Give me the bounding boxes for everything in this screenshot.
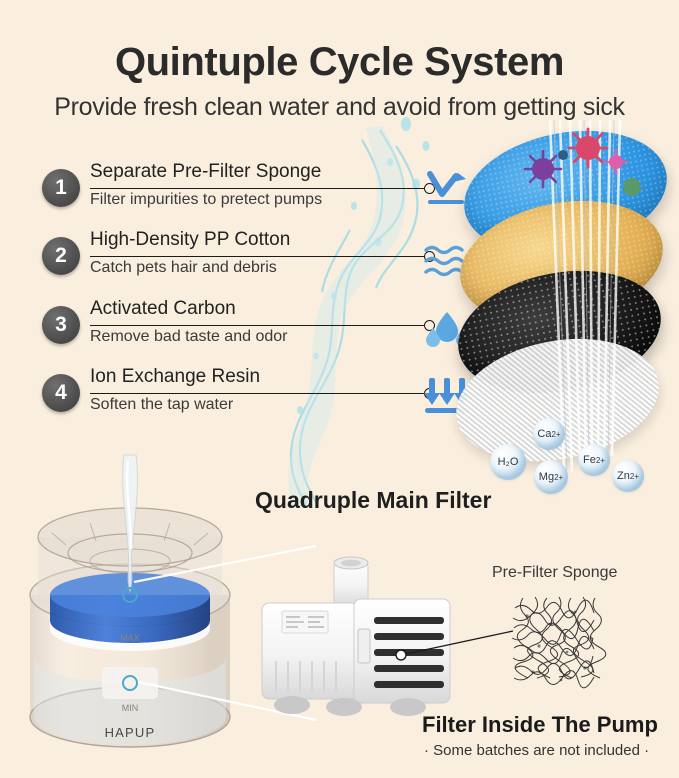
caption-filter-inside-the-pump: Filter Inside The Pump xyxy=(422,712,658,738)
pump-sponge-pointer-line xyxy=(395,625,520,665)
germ-purple xyxy=(525,151,561,187)
germ-green xyxy=(623,178,641,196)
ion-sup-zn: 2+ xyxy=(630,472,639,481)
germ-pink xyxy=(604,150,628,174)
feature-row-4: 4 Ion Exchange Resin Soften the tap wate… xyxy=(42,368,462,428)
ion-bubble-h2o: H₂O xyxy=(490,444,526,480)
feature-sub-4: Soften the tap water xyxy=(90,396,233,414)
feature-sub-3: Remove bad taste and odor xyxy=(90,328,287,346)
feature-heading-2: High-Density PP Cotton xyxy=(90,229,290,251)
ion-label-h2o: H₂O xyxy=(498,456,519,468)
infographic-canvas: Quintuple Cycle System Provide fresh cle… xyxy=(0,0,679,778)
feature-row-3: 3 Activated Carbon Remove bad taste and … xyxy=(42,300,462,360)
ion-label-fe: Fe xyxy=(583,454,596,466)
pre-filter-sponge-cube xyxy=(505,590,615,700)
feature-badge-3: 3 xyxy=(42,306,80,344)
ion-sup-fe: 2+ xyxy=(596,456,605,465)
ion-label-zn: Zn xyxy=(617,470,630,482)
feature-rule-4 xyxy=(90,393,430,394)
feature-heading-4: Ion Exchange Resin xyxy=(90,366,260,388)
caption-batch-note: · Some batches are not included · xyxy=(424,742,649,759)
feature-sub-2: Catch pets hair and debris xyxy=(90,259,277,277)
feature-rule-2 xyxy=(90,256,430,257)
ion-label-mg: Mg xyxy=(539,471,554,483)
feature-badge-1: 1 xyxy=(42,169,80,207)
feature-heading-3: Activated Carbon xyxy=(90,298,236,320)
page-title: Quintuple Cycle System xyxy=(0,40,679,85)
ion-sup-ca: 2+ xyxy=(551,430,560,439)
ion-bubble-mg: Mg2+ xyxy=(534,460,568,494)
feature-rule-3 xyxy=(90,325,430,326)
feature-badge-2: 2 xyxy=(42,237,80,275)
caption-pre-filter-sponge: Pre-Filter Sponge xyxy=(492,564,617,582)
feature-rule-1 xyxy=(90,188,430,189)
feature-badge-4: 4 xyxy=(42,374,80,412)
ion-label-ca: Ca xyxy=(537,428,551,440)
germ-red xyxy=(569,129,607,167)
ion-bubble-zn: Zn2+ xyxy=(612,460,644,492)
feature-heading-1: Separate Pre-Filter Sponge xyxy=(90,161,321,183)
feature-row-1: 1 Separate Pre-Filter Sponge Filter impu… xyxy=(42,163,462,223)
ion-bubble-ca: Ca2+ xyxy=(533,418,565,450)
caption-quadruple-main-filter: Quadruple Main Filter xyxy=(255,487,491,514)
ion-sup-mg: 2+ xyxy=(554,473,563,482)
feature-sub-1: Filter impurities to pretect pumps xyxy=(90,191,322,209)
ion-bubble-fe: Fe2+ xyxy=(578,444,610,476)
germ-particles xyxy=(515,125,645,215)
feature-row-2: 2 High-Density PP Cotton Catch pets hair… xyxy=(42,231,462,291)
germ-blue xyxy=(558,150,568,160)
